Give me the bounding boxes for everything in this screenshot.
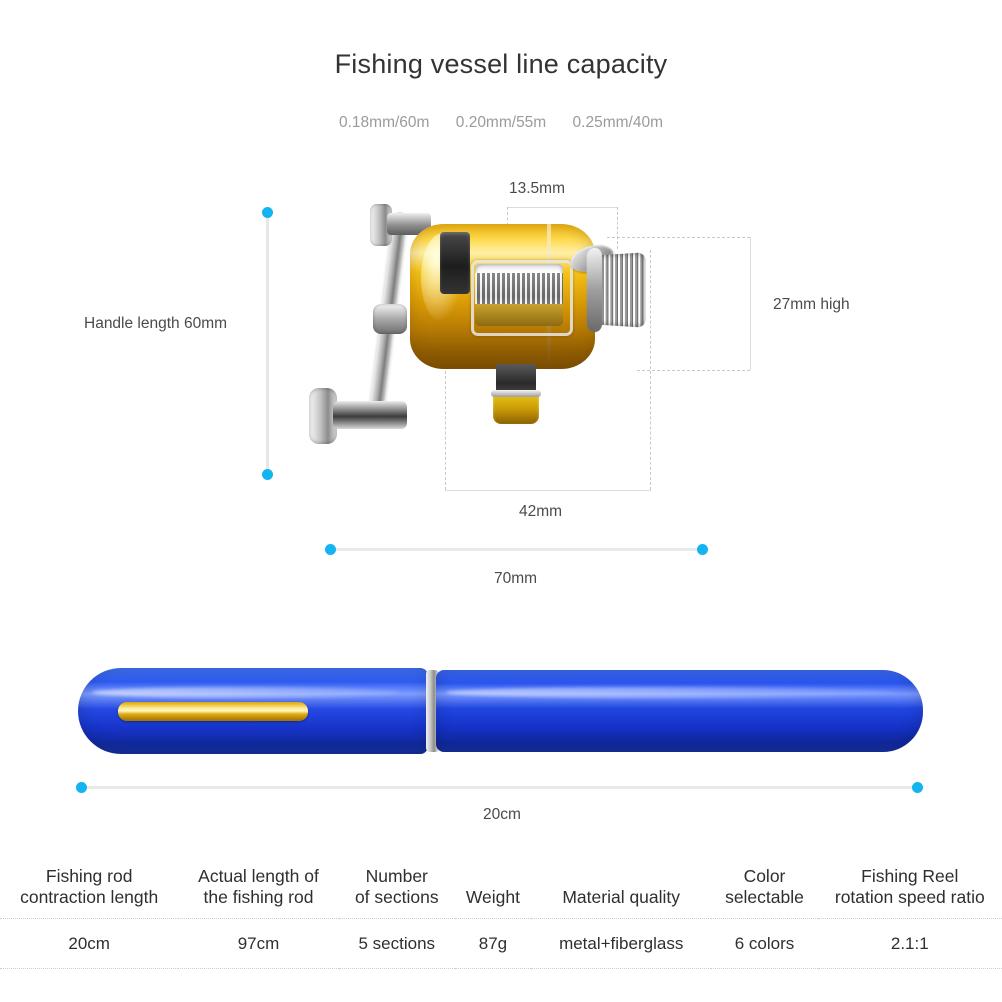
specification-table: Fishing rod contraction length Actual le…	[0, 866, 1002, 969]
header-material-quality: Material quality	[531, 866, 711, 918]
table-value-row: 20cm 97cm 5 sections 87g metal+fiberglas…	[0, 918, 1002, 968]
header-weight: Weight	[455, 866, 531, 918]
reel-height-guide-right	[750, 237, 751, 370]
handle-length-dimension-line	[266, 213, 269, 475]
handle-length-dot-top	[262, 207, 273, 218]
handle-length-label: Handle length 60mm	[84, 315, 227, 333]
reel-foot	[493, 364, 539, 422]
reel-total-width-dot-right	[697, 544, 708, 555]
reel-body-width-label: 42mm	[519, 503, 562, 521]
value-actual-length: 97cm	[178, 918, 338, 968]
handle-length-dot-bottom	[262, 469, 273, 480]
reel-middle-knob	[373, 304, 407, 334]
line-capacity-item-1: 0.18mm/60m	[339, 114, 429, 132]
reel-total-width-dimension-line	[330, 548, 702, 551]
reel-handle-knob	[309, 388, 417, 444]
value-color-selectable: 6 colors	[711, 918, 817, 968]
reel-thumb-bar	[440, 232, 470, 294]
pen-length-dot-left	[76, 782, 87, 793]
value-rotation-speed-ratio: 2.1:1	[818, 918, 1002, 968]
reel-drag-wheel	[595, 252, 646, 327]
reel-spool-frame	[471, 260, 573, 336]
reel-height-label: 27mm high	[773, 296, 850, 314]
reel-total-width-label: 70mm	[494, 570, 537, 588]
pen-length-label: 20cm	[483, 806, 521, 824]
header-number-of-sections: Number of sections	[339, 866, 455, 918]
fishing-pen-rod-image	[78, 658, 923, 763]
value-material-quality: metal+fiberglass	[531, 918, 711, 968]
value-number-of-sections: 5 sections	[339, 918, 455, 968]
value-weight: 87g	[455, 918, 531, 968]
line-capacity-list: 0.18mm/60m 0.20mm/55m 0.25mm/40m	[0, 114, 1002, 132]
header-rotation-speed-ratio: Fishing Reel rotation speed ratio	[818, 866, 1002, 918]
page-title: Fishing vessel line capacity	[0, 49, 1002, 80]
table-header-row: Fishing rod contraction length Actual le…	[0, 866, 1002, 918]
pen-barrel	[436, 670, 923, 752]
header-actual-length: Actual length of the fishing rod	[178, 866, 338, 918]
pen-clip	[118, 702, 308, 721]
infographic-page: Fishing vessel line capacity 0.18mm/60m …	[0, 0, 1002, 1002]
line-capacity-item-2: 0.20mm/55m	[456, 114, 546, 132]
header-contraction-length: Fishing rod contraction length	[0, 866, 178, 918]
value-contraction-length: 20cm	[0, 918, 178, 968]
reel-total-width-dot-left	[325, 544, 336, 555]
header-color-selectable: Color selectable	[711, 866, 817, 918]
pen-length-dimension-line	[82, 786, 918, 789]
line-capacity-item-3: 0.25mm/40m	[573, 114, 663, 132]
fishing-reel-image	[315, 196, 715, 496]
pen-length-dot-right	[912, 782, 923, 793]
